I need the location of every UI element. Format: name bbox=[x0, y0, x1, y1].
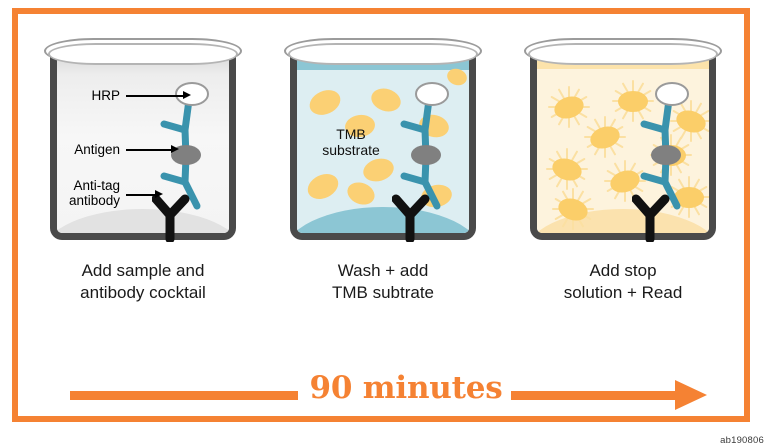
well-rim-inner bbox=[288, 43, 478, 65]
capture-antibody-icon bbox=[396, 199, 425, 239]
watermark-code: ab190806 bbox=[720, 435, 764, 446]
well-container: TMB substrate bbox=[282, 38, 484, 243]
timeline-arrowhead bbox=[675, 380, 707, 410]
hrp-enzyme-icon bbox=[656, 83, 688, 105]
tmb-blob bbox=[344, 179, 378, 209]
panel-caption: Add stop solution + Read bbox=[514, 260, 732, 305]
panel-caption: Add sample and antibody cocktail bbox=[34, 260, 252, 305]
callout-arrow-hrp bbox=[126, 95, 184, 97]
panel-add-sample: HRP Antigen Anti-tag antibody Add sample… bbox=[42, 38, 244, 338]
well-container bbox=[522, 38, 724, 243]
hrp-enzyme-icon bbox=[416, 83, 448, 105]
timeline-bar-left bbox=[70, 391, 298, 400]
callout-label-antigen: Antigen bbox=[48, 142, 120, 157]
callout-label-hrp: HRP bbox=[70, 88, 120, 103]
callout-arrow-anti-tag bbox=[126, 194, 156, 196]
callout-label-anti-tag-antibody: Anti-tag antibody bbox=[44, 178, 120, 208]
timeline-bar-right bbox=[511, 391, 677, 400]
inwell-label-tmb-substrate: TMB substrate bbox=[308, 126, 394, 158]
molecule-assembly bbox=[632, 82, 702, 242]
well-rim-inner bbox=[48, 43, 238, 65]
antigen-icon bbox=[651, 145, 681, 165]
antigen-icon bbox=[411, 145, 441, 165]
tmb-blob bbox=[304, 169, 343, 204]
molecule-assembly bbox=[392, 82, 462, 242]
callout-arrowhead-antigen bbox=[171, 145, 179, 153]
glow-blob bbox=[545, 181, 601, 233]
well-rim-inner bbox=[528, 43, 718, 65]
panel-wash-tmb: TMB substrate Wash + add TMB subtrate bbox=[282, 38, 484, 338]
panel-caption: Wash + add TMB subtrate bbox=[274, 260, 492, 305]
tmb-blob bbox=[306, 85, 345, 119]
panel-stop-read: Add stop solution + Read bbox=[522, 38, 724, 338]
hrp-enzyme-icon bbox=[176, 83, 208, 105]
capture-antibody-icon bbox=[156, 199, 185, 239]
callout-arrow-antigen bbox=[126, 149, 172, 151]
molecule-assembly bbox=[152, 82, 222, 242]
callout-arrowhead-anti-tag bbox=[155, 190, 163, 198]
diagram-frame: HRP Antigen Anti-tag antibody Add sample… bbox=[12, 8, 750, 422]
timeline-arrow: 90 minutes bbox=[48, 370, 734, 420]
capture-antibody-icon bbox=[636, 199, 665, 239]
callout-arrowhead-hrp bbox=[183, 91, 191, 99]
well-container: HRP Antigen Anti-tag antibody bbox=[42, 38, 244, 243]
timeline-label: 90 minutes bbox=[304, 370, 508, 406]
